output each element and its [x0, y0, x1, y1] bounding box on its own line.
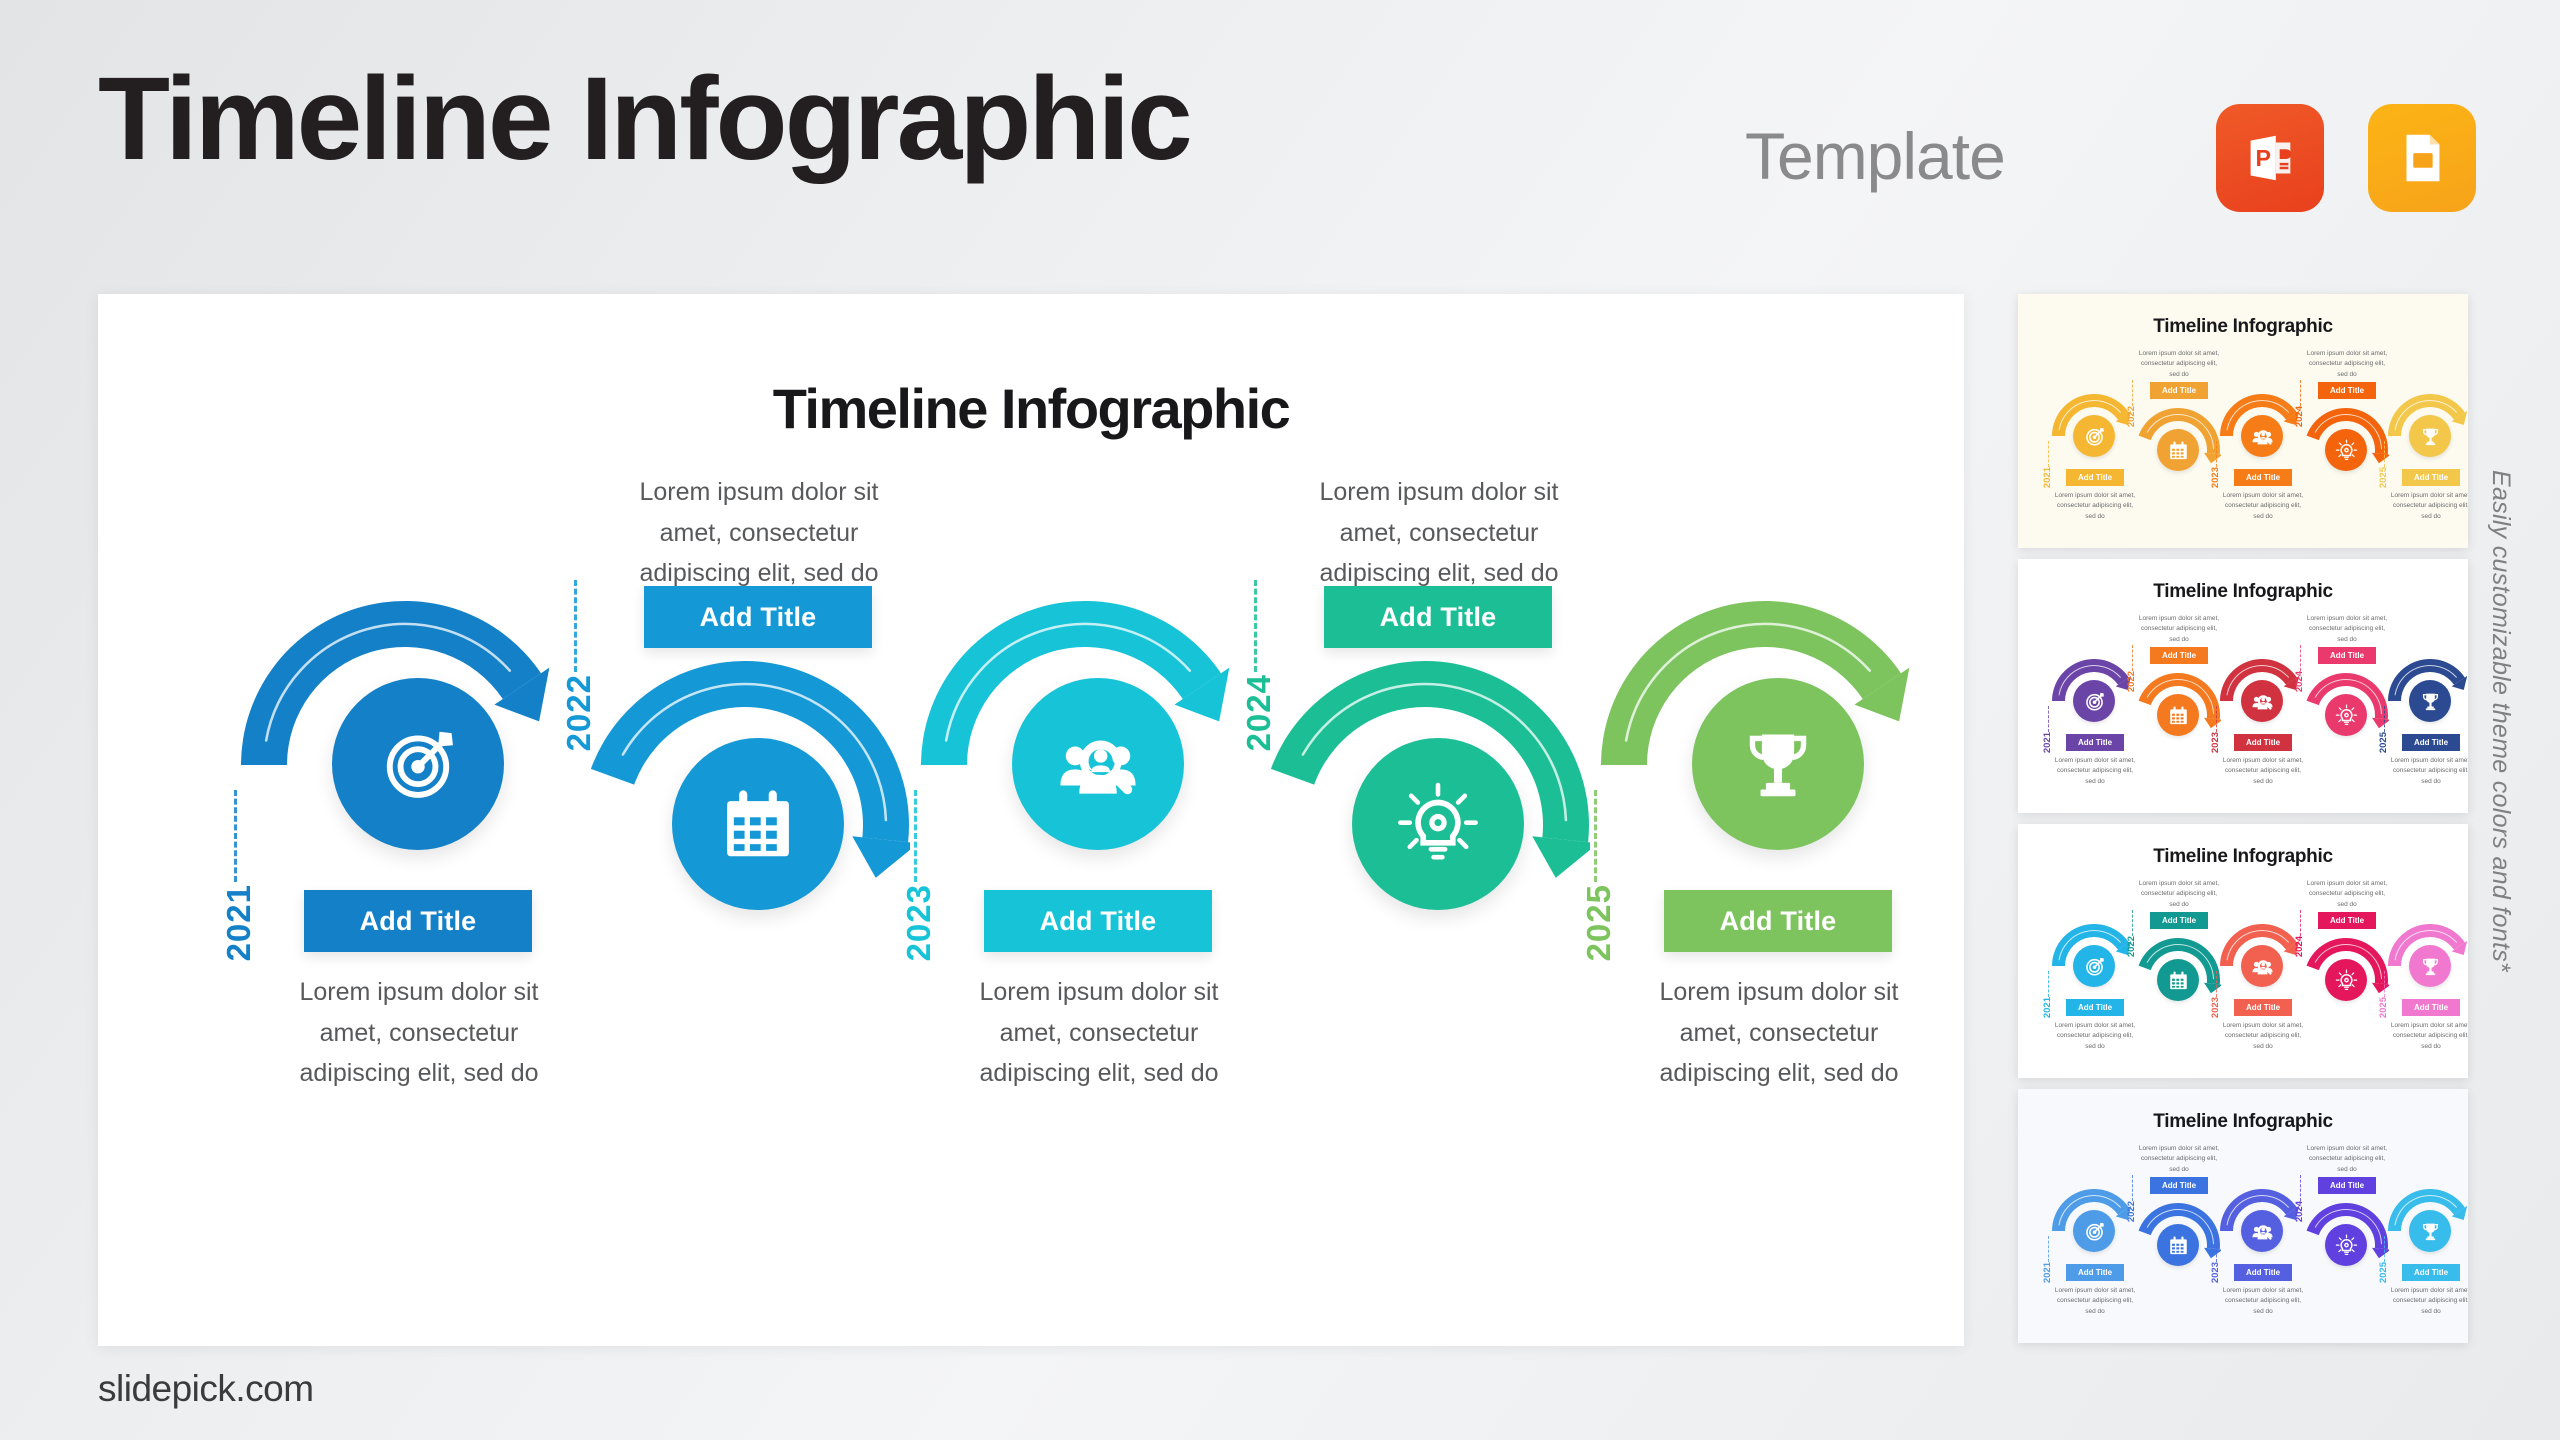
timeline-connector-2024 — [1254, 580, 1257, 672]
thumbnail-body-text-2024: Lorem ipsum dolor sit amet, consectetur … — [2306, 879, 2388, 910]
thumbnail-year-2024: 2024 — [2294, 1201, 2305, 1222]
thumbnail-item-2022: Add TitleLorem ipsum dolor sit amet, con… — [2132, 559, 2222, 813]
thumbnail-year-2025: 2025 — [2378, 997, 2389, 1018]
timeline-connector-2022 — [574, 580, 577, 672]
timeline-title-label: Add Title — [360, 906, 477, 937]
thumbnail-icon-circle-2023 — [2241, 1210, 2283, 1252]
thumbnail-title-button-2022: Add Title — [2150, 1177, 2208, 1194]
thumbnail-connector-2023 — [2216, 971, 2217, 997]
thumbnail-title-button-2021: Add Title — [2066, 469, 2124, 486]
timeline-year-2022: 2022 — [560, 674, 598, 751]
thumbnail-year-2025: 2025 — [2378, 467, 2389, 488]
thumbnail-variant-1[interactable]: Timeline InfographicAdd TitleLorem ipsum… — [2018, 294, 2468, 548]
thumbnail-connector-2023 — [2216, 441, 2217, 467]
thumbnail-variant-4[interactable]: Timeline InfographicAdd TitleLorem ipsum… — [2018, 1089, 2468, 1343]
timeline-body-text-2021: Lorem ipsum dolor sit amet, consectetur … — [280, 972, 558, 1094]
timeline-year-2024: 2024 — [1240, 674, 1278, 751]
lightbulb-gear-icon — [2335, 1234, 2358, 1257]
thumbnail-title-label: Add Title — [2330, 1181, 2364, 1190]
thumbnail-connector-2022 — [2132, 910, 2133, 936]
thumbnail-icon-circle-2024 — [2325, 429, 2367, 471]
thumbnail-title-label: Add Title — [2414, 1003, 2448, 1012]
thumbnail-title-button-2025: Add Title — [2402, 1264, 2460, 1281]
thumbnail-icon-circle-2023 — [2241, 945, 2283, 987]
main-slide-preview[interactable]: Timeline Infographic Add TitleLorem ipsu… — [98, 294, 1964, 1346]
thumbnail-item-2023: Add TitleLorem ipsum dolor sit amet, con… — [2216, 559, 2306, 813]
timeline-title-label: Add Title — [1380, 602, 1497, 633]
trophy-icon — [2419, 1220, 2442, 1243]
thumbnail-body-text-2025: Lorem ipsum dolor sit amet, consectetur … — [2390, 756, 2468, 787]
thumbnail-body-text-2024: Lorem ipsum dolor sit amet, consectetur … — [2306, 1144, 2388, 1175]
thumbnail-connector-2024 — [2300, 1175, 2301, 1201]
thumbnail-icon-circle-2024 — [2325, 694, 2367, 736]
timeline-item-2025[interactable]: Add TitleLorem ipsum dolor sit amet, con… — [1584, 294, 1954, 1346]
thumbnail-year-2022: 2022 — [2126, 936, 2137, 957]
timeline-item-2023[interactable]: Add TitleLorem ipsum dolor sit amet, con… — [904, 294, 1274, 1346]
timeline-item-2021[interactable]: Add TitleLorem ipsum dolor sit amet, con… — [224, 294, 594, 1346]
thumbnail-title-label: Add Title — [2162, 916, 2196, 925]
thumbnail-item-2025: Add TitleLorem ipsum dolor sit amet, con… — [2384, 559, 2468, 813]
people-search-icon — [2251, 425, 2274, 448]
thumbnail-icon-circle-2023 — [2241, 415, 2283, 457]
thumbnail-connector-2025 — [2384, 1236, 2385, 1262]
timeline-connector-2021 — [234, 790, 237, 882]
thumbnail-year-2024: 2024 — [2294, 936, 2305, 957]
thumbnail-body-text-2025: Lorem ipsum dolor sit amet, consectetur … — [2390, 1021, 2468, 1052]
thumbnail-icon-circle-2025 — [2409, 1210, 2451, 1252]
thumbnail-icon-circle-2022 — [2157, 959, 2199, 1001]
timeline-icon-circle-2024[interactable] — [1352, 738, 1524, 910]
thumbnail-title-label: Add Title — [2330, 386, 2364, 395]
thumbnail-title-button-2022: Add Title — [2150, 382, 2208, 399]
thumbnail-year-2023: 2023 — [2210, 997, 2221, 1018]
thumbnail-title-button-2023: Add Title — [2234, 1264, 2292, 1281]
thumbnail-connector-2024 — [2300, 380, 2301, 406]
thumbnail-year-2021: 2021 — [2042, 1262, 2053, 1283]
thumbnail-variant-3[interactable]: Timeline InfographicAdd TitleLorem ipsum… — [2018, 824, 2468, 1078]
timeline-year-2025: 2025 — [1580, 884, 1618, 961]
thumbnail-body-text-2023: Lorem ipsum dolor sit amet, consectetur … — [2222, 1286, 2304, 1317]
thumbnail-connector-2022 — [2132, 645, 2133, 671]
thumbnail-title-button-2023: Add Title — [2234, 999, 2292, 1016]
people-search-icon — [2251, 955, 2274, 978]
thumbnail-variant-2[interactable]: Timeline InfographicAdd TitleLorem ipsum… — [2018, 559, 2468, 813]
thumbnail-body-text-2022: Lorem ipsum dolor sit amet, consectetur … — [2138, 1144, 2220, 1175]
thumbnail-connector-2025 — [2384, 706, 2385, 732]
thumbnail-title-label: Add Title — [2078, 473, 2112, 482]
thumbnail-body-text-2025: Lorem ipsum dolor sit amet, consectetur … — [2390, 491, 2468, 522]
thumbnail-item-2025: Add TitleLorem ipsum dolor sit amet, con… — [2384, 294, 2468, 548]
thumbnail-title-button-2022: Add Title — [2150, 912, 2208, 929]
thumbnail-title-label: Add Title — [2162, 1181, 2196, 1190]
timeline-icon-circle-2023[interactable] — [1012, 678, 1184, 850]
thumbnail-item-2024: Add TitleLorem ipsum dolor sit amet, con… — [2300, 294, 2390, 548]
thumbnail-body-text-2021: Lorem ipsum dolor sit amet, consectetur … — [2054, 756, 2136, 787]
thumbnail-title-button-2021: Add Title — [2066, 1264, 2124, 1281]
trophy-icon — [1735, 721, 1821, 807]
thumbnail-connector-2024 — [2300, 910, 2301, 936]
timeline-connector-2025 — [1594, 790, 1597, 882]
thumbnail-body-text-2021: Lorem ipsum dolor sit amet, consectetur … — [2054, 491, 2136, 522]
thumbnail-year-2025: 2025 — [2378, 1262, 2389, 1283]
thumbnail-title-label: Add Title — [2246, 1003, 2280, 1012]
thumbnail-year-2023: 2023 — [2210, 467, 2221, 488]
page-header: Timeline Infographic Template P — [0, 0, 2560, 294]
calendar-icon — [715, 781, 801, 867]
target-icon — [375, 721, 461, 807]
google-slides-icon[interactable] — [2368, 104, 2476, 212]
thumbnail-icon-circle-2025 — [2409, 945, 2451, 987]
thumbnail-connector-2021 — [2048, 971, 2049, 997]
thumbnail-item-2023: Add TitleLorem ipsum dolor sit amet, con… — [2216, 294, 2306, 548]
thumbnail-icon-circle-2022 — [2157, 694, 2199, 736]
target-icon — [2083, 955, 2106, 978]
thumbnail-title-label: Add Title — [2246, 738, 2280, 747]
thumbnail-year-2023: 2023 — [2210, 1262, 2221, 1283]
timeline-icon-circle-2025[interactable] — [1692, 678, 1864, 850]
thumbnail-connector-2025 — [2384, 971, 2385, 997]
thumbnail-item-2024: Add TitleLorem ipsum dolor sit amet, con… — [2300, 1089, 2390, 1343]
thumbnail-item-2024: Add TitleLorem ipsum dolor sit amet, con… — [2300, 559, 2390, 813]
thumbnail-year-2022: 2022 — [2126, 406, 2137, 427]
target-icon — [2083, 425, 2106, 448]
thumbnail-icon-circle-2022 — [2157, 1224, 2199, 1266]
timeline-title-button-2025[interactable]: Add Title — [1664, 890, 1892, 952]
calendar-icon — [2167, 704, 2190, 727]
thumbnail-body-text-2025: Lorem ipsum dolor sit amet, consectetur … — [2390, 1286, 2468, 1317]
thumbnail-item-2021: Add TitleLorem ipsum dolor sit amet, con… — [2048, 1089, 2138, 1343]
timeline-title-label: Add Title — [1040, 906, 1157, 937]
thumbnail-icon-circle-2025 — [2409, 415, 2451, 457]
timeline-title-button-2022[interactable]: Add Title — [644, 586, 872, 648]
thumbnail-icon-circle-2021 — [2073, 680, 2115, 722]
timeline-body-text-2024: Lorem ipsum dolor sit amet, consectetur … — [1300, 472, 1578, 594]
thumbnail-connector-2022 — [2132, 1175, 2133, 1201]
thumbnail-item-2023: Add TitleLorem ipsum dolor sit amet, con… — [2216, 1089, 2306, 1343]
thumbnail-title-label: Add Title — [2162, 651, 2196, 660]
thumbnail-body-text-2023: Lorem ipsum dolor sit amet, consectetur … — [2222, 756, 2304, 787]
timeline-title-label: Add Title — [700, 602, 817, 633]
timeline-body-text-2022: Lorem ipsum dolor sit amet, consectetur … — [620, 472, 898, 594]
thumbnail-icon-circle-2024 — [2325, 1224, 2367, 1266]
lightbulb-gear-icon — [2335, 704, 2358, 727]
thumbnail-body-text-2021: Lorem ipsum dolor sit amet, consectetur … — [2054, 1286, 2136, 1317]
thumbnail-title-label: Add Title — [2330, 651, 2364, 660]
thumbnail-year-2023: 2023 — [2210, 732, 2221, 753]
thumbnail-body-text-2021: Lorem ipsum dolor sit amet, consectetur … — [2054, 1021, 2136, 1052]
thumbnail-icon-circle-2021 — [2073, 1210, 2115, 1252]
trophy-icon — [2419, 425, 2442, 448]
footer-website: slidepick.com — [98, 1368, 314, 1410]
thumbnail-item-2025: Add TitleLorem ipsum dolor sit amet, con… — [2384, 1089, 2468, 1343]
timeline-year-2021: 2021 — [220, 884, 258, 961]
thumbnail-list: Timeline InfographicAdd TitleLorem ipsum… — [2018, 294, 2468, 1354]
timeline-title-button-2024[interactable]: Add Title — [1324, 586, 1552, 648]
thumbnail-title-button-2022: Add Title — [2150, 647, 2208, 664]
thumbnail-year-2021: 2021 — [2042, 732, 2053, 753]
thumbnail-title-button-2024: Add Title — [2318, 382, 2376, 399]
thumbnail-year-2022: 2022 — [2126, 1201, 2137, 1222]
thumbnail-title-button-2025: Add Title — [2402, 999, 2460, 1016]
thumbnail-year-2021: 2021 — [2042, 467, 2053, 488]
thumbnail-icon-circle-2022 — [2157, 429, 2199, 471]
thumbnail-title-button-2024: Add Title — [2318, 1177, 2376, 1194]
thumbnail-icon-circle-2023 — [2241, 680, 2283, 722]
thumbnail-title-button-2025: Add Title — [2402, 734, 2460, 751]
thumbnail-body-text-2023: Lorem ipsum dolor sit amet, consectetur … — [2222, 491, 2304, 522]
thumbnail-item-2024: Add TitleLorem ipsum dolor sit amet, con… — [2300, 824, 2390, 1078]
thumbnail-year-2024: 2024 — [2294, 406, 2305, 427]
thumbnail-title-label: Add Title — [2330, 916, 2364, 925]
trophy-icon — [2419, 955, 2442, 978]
svg-text:P: P — [2255, 145, 2271, 171]
lightbulb-gear-icon — [1395, 781, 1481, 867]
thumbnail-body-text-2024: Lorem ipsum dolor sit amet, consectetur … — [2306, 349, 2388, 380]
template-subtitle: Template — [1745, 118, 2005, 194]
thumbnail-title-label: Add Title — [2078, 1003, 2112, 1012]
thumbnail-connector-2025 — [2384, 441, 2385, 467]
thumbnail-title-button-2021: Add Title — [2066, 734, 2124, 751]
thumbnail-connector-2021 — [2048, 706, 2049, 732]
thumbnail-title-button-2023: Add Title — [2234, 734, 2292, 751]
thumbnail-title-button-2024: Add Title — [2318, 647, 2376, 664]
thumbnail-icon-circle-2024 — [2325, 959, 2367, 1001]
timeline-title-button-2023[interactable]: Add Title — [984, 890, 1212, 952]
thumbnail-title-button-2021: Add Title — [2066, 999, 2124, 1016]
thumbnail-title-label: Add Title — [2078, 738, 2112, 747]
side-note: Easily customizable theme colors and fon… — [2486, 470, 2515, 972]
thumbnail-body-text-2023: Lorem ipsum dolor sit amet, consectetur … — [2222, 1021, 2304, 1052]
thumbnail-title-button-2025: Add Title — [2402, 469, 2460, 486]
timeline-title-label: Add Title — [1720, 906, 1837, 937]
thumbnail-title-label: Add Title — [2162, 386, 2196, 395]
thumbnail-connector-2021 — [2048, 1236, 2049, 1262]
timeline-icon-circle-2021[interactable] — [332, 678, 504, 850]
calendar-icon — [2167, 1234, 2190, 1257]
target-icon — [2083, 1220, 2106, 1243]
timeline-item-2022[interactable]: Add TitleLorem ipsum dolor sit amet, con… — [564, 294, 934, 1346]
thumbnail-item-2021: Add TitleLorem ipsum dolor sit amet, con… — [2048, 294, 2138, 548]
thumbnail-year-2022: 2022 — [2126, 671, 2137, 692]
people-search-icon — [1055, 721, 1141, 807]
thumbnail-connector-2023 — [2216, 1236, 2217, 1262]
thumbnail-item-2022: Add TitleLorem ipsum dolor sit amet, con… — [2132, 824, 2222, 1078]
thumbnail-title-button-2023: Add Title — [2234, 469, 2292, 486]
timeline-connector-2023 — [914, 790, 917, 882]
thumbnail-title-label: Add Title — [2078, 1268, 2112, 1277]
people-search-icon — [2251, 1220, 2274, 1243]
lightbulb-gear-icon — [2335, 439, 2358, 462]
thumbnail-body-text-2024: Lorem ipsum dolor sit amet, consectetur … — [2306, 614, 2388, 645]
page-title: Timeline Infographic — [98, 60, 1190, 178]
lightbulb-gear-icon — [2335, 969, 2358, 992]
thumbnail-title-button-2024: Add Title — [2318, 912, 2376, 929]
thumbnail-item-2023: Add TitleLorem ipsum dolor sit amet, con… — [2216, 824, 2306, 1078]
timeline-container: Add TitleLorem ipsum dolor sit amet, con… — [98, 294, 1964, 1346]
thumbnail-body-text-2022: Lorem ipsum dolor sit amet, consectetur … — [2138, 879, 2220, 910]
thumbnail-year-2025: 2025 — [2378, 732, 2389, 753]
thumbnail-connector-2024 — [2300, 645, 2301, 671]
thumbnail-title-label: Add Title — [2414, 473, 2448, 482]
thumbnail-item-2025: Add TitleLorem ipsum dolor sit amet, con… — [2384, 824, 2468, 1078]
thumbnail-connector-2022 — [2132, 380, 2133, 406]
timeline-title-button-2021[interactable]: Add Title — [304, 890, 532, 952]
thumbnail-item-2022: Add TitleLorem ipsum dolor sit amet, con… — [2132, 1089, 2222, 1343]
timeline-year-2023: 2023 — [900, 884, 938, 961]
target-icon — [2083, 690, 2106, 713]
timeline-item-2024[interactable]: Add TitleLorem ipsum dolor sit amet, con… — [1244, 294, 1614, 1346]
thumbnail-item-2021: Add TitleLorem ipsum dolor sit amet, con… — [2048, 824, 2138, 1078]
thumbnail-connector-2021 — [2048, 441, 2049, 467]
timeline-body-text-2023: Lorem ipsum dolor sit amet, consectetur … — [960, 972, 1238, 1094]
thumbnail-icon-circle-2025 — [2409, 680, 2451, 722]
trophy-icon — [2419, 690, 2442, 713]
thumbnail-icon-circle-2021 — [2073, 945, 2115, 987]
thumbnail-year-2021: 2021 — [2042, 997, 2053, 1018]
calendar-icon — [2167, 969, 2190, 992]
thumbnail-item-2022: Add TitleLorem ipsum dolor sit amet, con… — [2132, 294, 2222, 548]
thumbnail-icon-circle-2021 — [2073, 415, 2115, 457]
timeline-body-text-2025: Lorem ipsum dolor sit amet, consectetur … — [1640, 972, 1918, 1094]
thumbnail-item-2021: Add TitleLorem ipsum dolor sit amet, con… — [2048, 559, 2138, 813]
thumbnail-year-2024: 2024 — [2294, 671, 2305, 692]
thumbnail-title-label: Add Title — [2246, 473, 2280, 482]
thumbnail-title-label: Add Title — [2246, 1268, 2280, 1277]
thumbnail-title-label: Add Title — [2414, 738, 2448, 747]
thumbnail-body-text-2022: Lorem ipsum dolor sit amet, consectetur … — [2138, 349, 2220, 380]
thumbnail-connector-2023 — [2216, 706, 2217, 732]
timeline-icon-circle-2022[interactable] — [672, 738, 844, 910]
calendar-icon — [2167, 439, 2190, 462]
people-search-icon — [2251, 690, 2274, 713]
powerpoint-icon[interactable]: P — [2216, 104, 2324, 212]
thumbnail-body-text-2022: Lorem ipsum dolor sit amet, consectetur … — [2138, 614, 2220, 645]
thumbnail-title-label: Add Title — [2414, 1268, 2448, 1277]
